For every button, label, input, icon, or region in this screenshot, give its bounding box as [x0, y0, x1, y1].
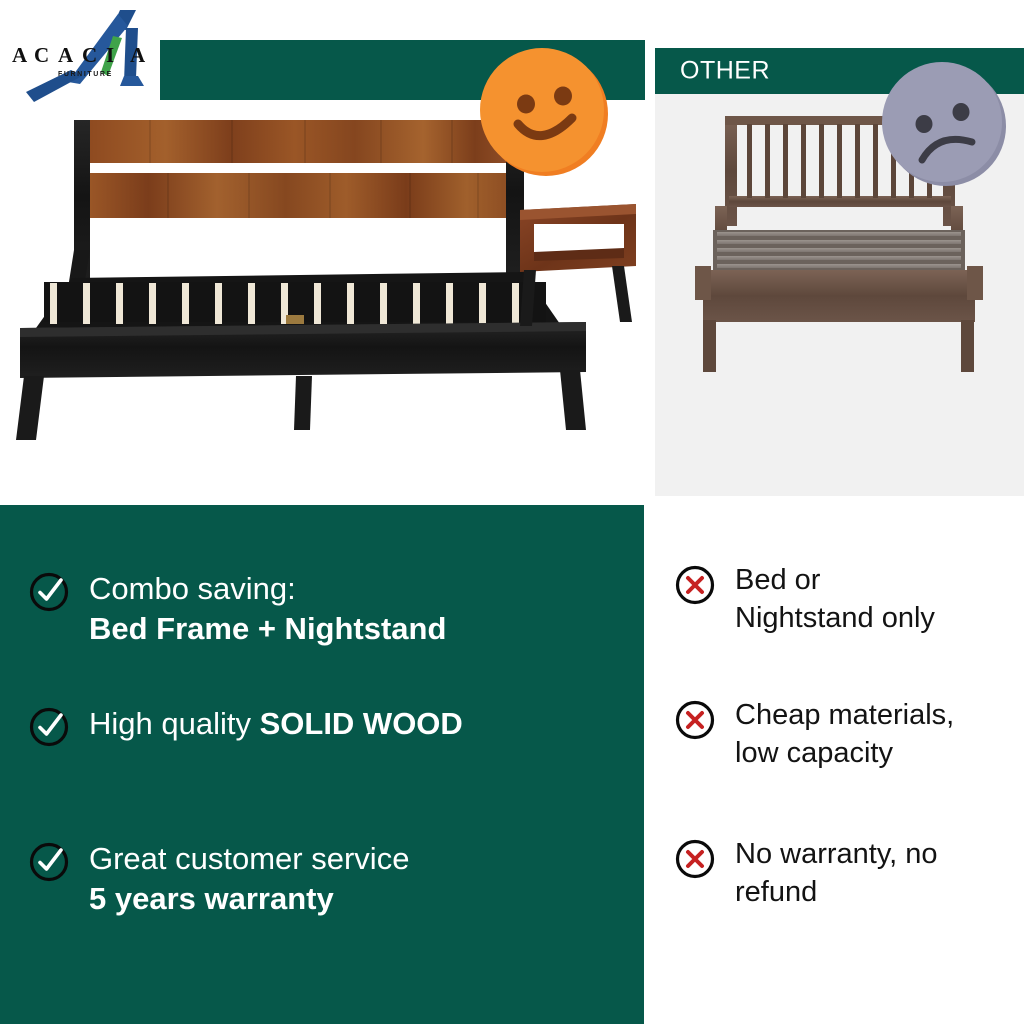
other-drawback-3-line2: refund [735, 874, 938, 912]
svg-text:A: A [130, 43, 150, 67]
cross-circle-icon [674, 699, 716, 741]
other-drawback-1-text: Bed or Nightstand only [735, 562, 935, 637]
other-drawback-3: No warranty, no refund [674, 836, 938, 911]
other-drawback-1-line2: Nightstand only [735, 600, 935, 638]
happy-face-icon [478, 46, 610, 178]
infographic-canvas: OTHER A C A C I A FURNITURE [0, 0, 1024, 1024]
acacia-benefit-2: High quality SOLID WOOD [28, 704, 463, 748]
other-drawback-1-line1: Bed or [735, 562, 935, 600]
check-circle-icon [28, 571, 70, 613]
acacia-benefit-2-text: High quality SOLID WOOD [89, 704, 463, 744]
acacia-benefit-3-line2: 5 years warranty [89, 879, 409, 919]
other-drawback-3-text: No warranty, no refund [735, 836, 938, 911]
acacia-benefit-2-line1: High quality SOLID WOOD [89, 704, 463, 744]
cross-circle-icon [674, 838, 716, 880]
acacia-logo-icon: A C A C I A FURNITURE [8, 6, 168, 106]
svg-text:A: A [58, 43, 78, 67]
svg-text:FURNITURE: FURNITURE [58, 71, 113, 78]
check-circle-icon [28, 706, 70, 748]
other-drawbacks-pane: Bed or Nightstand only Cheap materials, … [655, 505, 1024, 1024]
sad-face-icon [880, 60, 1006, 186]
acacia-benefits-pane: Combo saving: Bed Frame + Nightstand Hig… [0, 505, 644, 1024]
svg-text:I: I [106, 43, 119, 67]
acacia-benefit-3: Great customer service 5 years warranty [28, 839, 409, 920]
acacia-benefit-2-strong: SOLID WOOD [260, 706, 463, 741]
other-drawback-2-line2: low capacity [735, 735, 954, 773]
other-drawback-2: Cheap materials, low capacity [674, 697, 954, 772]
cross-circle-icon [674, 564, 716, 606]
acacia-benefit-1: Combo saving: Bed Frame + Nightstand [28, 569, 446, 650]
other-drawback-1: Bed or Nightstand only [674, 562, 935, 637]
acacia-benefit-1-text: Combo saving: Bed Frame + Nightstand [89, 569, 446, 650]
check-circle-icon [28, 841, 70, 883]
acacia-benefit-3-text: Great customer service 5 years warranty [89, 839, 409, 920]
acacia-logo: A C A C I A FURNITURE [8, 6, 168, 106]
acacia-benefit-1-line2: Bed Frame + Nightstand [89, 609, 446, 649]
acacia-benefit-1-line1: Combo saving: [89, 569, 446, 609]
svg-text:A: A [12, 43, 32, 67]
acacia-benefit-2-prefix: High quality [89, 706, 260, 741]
svg-text:C: C [34, 43, 54, 67]
other-header-label: OTHER [680, 59, 770, 84]
other-drawback-2-text: Cheap materials, low capacity [735, 697, 954, 772]
acacia-benefit-3-line1: Great customer service [89, 839, 409, 879]
svg-text:C: C [82, 43, 102, 67]
other-drawback-3-line1: No warranty, no [735, 836, 938, 874]
other-drawback-2-line1: Cheap materials, [735, 697, 954, 735]
